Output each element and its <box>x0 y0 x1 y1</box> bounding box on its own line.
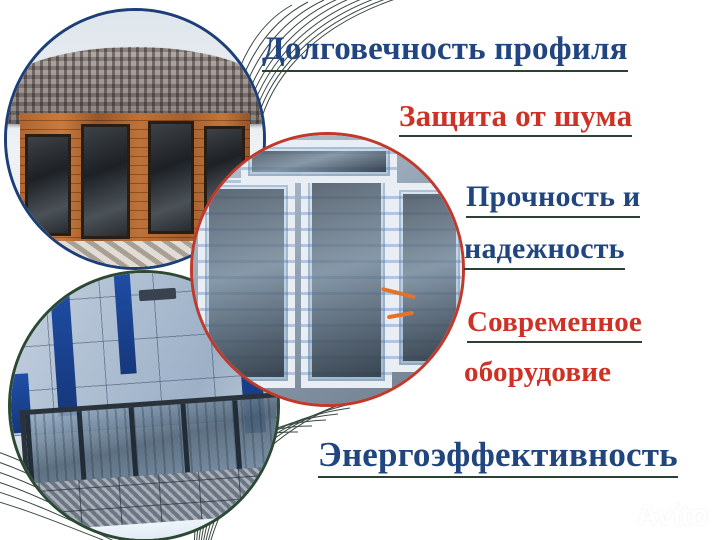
window-glass <box>312 178 381 377</box>
headline-modern: Современное <box>467 308 642 343</box>
headline-noise-protection: Защита от шума <box>399 100 632 137</box>
headline-text: Прочность и <box>466 180 640 213</box>
window-glass <box>209 189 284 377</box>
photo-circle-pvc-windows <box>190 132 465 407</box>
window-glass <box>252 151 386 172</box>
pvc-windows-photo <box>193 135 462 404</box>
avito-watermark: Avito <box>606 501 708 531</box>
headline-underline <box>464 268 625 270</box>
pvc-transom-unit <box>241 140 397 183</box>
headline-text: Защита от шума <box>399 98 632 133</box>
headline-underline <box>399 135 632 137</box>
headline-text: надежность <box>464 232 625 265</box>
headline-equipment: оборудовие <box>464 358 611 388</box>
headline-energy-efficiency: Энергоэффективность <box>318 437 678 478</box>
headline-durability: Долговечность профиля <box>262 33 628 72</box>
headline-strength: Прочность и <box>466 182 640 218</box>
house-window <box>81 124 130 239</box>
house-window <box>25 134 71 236</box>
headline-text: оборудовие <box>464 356 611 388</box>
pvc-window-unit <box>301 167 392 388</box>
headline-text: Энергоэффективность <box>318 435 678 474</box>
pvc-window-unit <box>392 183 465 371</box>
pvc-window-unit <box>198 178 295 388</box>
house-window <box>148 121 194 234</box>
poster-canvas: Долговечность профиля Защита от шума Про… <box>0 0 720 540</box>
headline-underline <box>467 341 642 343</box>
avito-logo-icon <box>606 503 632 529</box>
headline-reliability: надежность <box>464 234 625 270</box>
avito-wordmark: Avito <box>637 501 708 531</box>
window-glass <box>403 194 456 360</box>
headline-underline <box>466 216 640 218</box>
headline-underline <box>318 476 678 478</box>
headline-underline <box>262 70 628 72</box>
headline-text: Долговечность профиля <box>262 31 628 67</box>
headline-text: Современное <box>467 306 642 338</box>
